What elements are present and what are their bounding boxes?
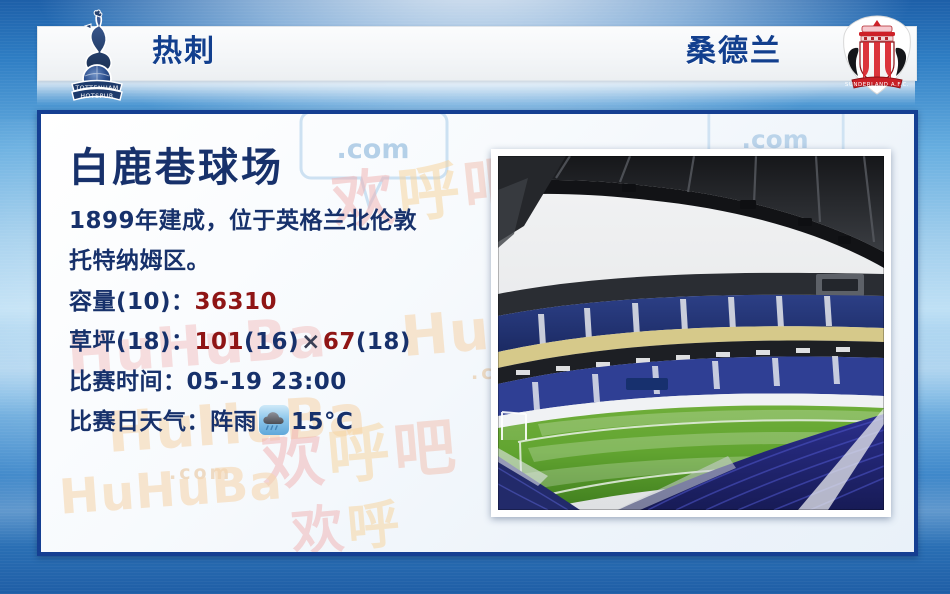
match-stadium-infographic: 热刺 桑德兰 [0,0,950,594]
crest-motto-bottom: HOTSPUR [80,93,113,100]
pitch-row: 草坪(18)：101(16)×67(18) [69,322,489,362]
shower-rain-cloud-icon [259,405,289,435]
weather-temperature: 15°C [291,409,353,435]
capacity-value: 36310 [195,289,278,315]
stadium-info-panel: .com .com 欢呼吧 HuHuBa HuHuBa .com HuHuBa … [37,110,918,556]
capacity-row: 容量(10)：36310 [69,282,489,322]
weather-row: 比赛日天气：阵雨 [69,402,489,442]
stadium-description-line-1: 1899年建成，位于英格兰北伦敦 [69,202,474,240]
pitch-length: 101 [195,329,245,355]
away-team-name: 桑德兰 [686,30,782,74]
pitch-width-note: (18) [356,329,411,355]
weather-condition: 阵雨 [210,409,257,435]
pitch-length-note: (16) [244,329,299,355]
stadium-description-line-2: 托特纳姆区。 [69,242,474,280]
kickoff-label: 比赛时间： [69,369,187,395]
header-sheen [37,79,915,105]
kickoff-row: 比赛时间：05-19 23:00 [69,362,489,402]
weather-label: 比赛日天气： [69,409,210,435]
watermark-char-1c: 欢 [289,499,350,552]
sunderland-afc-crest-icon: SUNDERLAND A.F.C. [836,14,918,96]
pitch-width: 67 [323,329,356,355]
watermark-char-2c: 呼 [345,494,406,552]
pitch-times-sign: × [299,329,323,355]
stadium-title: 白鹿巷球场 [69,142,489,194]
pitch-label: 草坪(18)： [69,329,195,355]
watermark-brand-latin-bottom: HuHuBa [57,454,284,525]
white-hart-lane-stadium-photo [498,156,884,510]
tottenham-hotspur-crest-icon: TOTTENHAM HOTSPUR [62,8,132,102]
stadium-photo-frame [491,149,891,517]
stadium-info-text: 白鹿巷球场 1899年建成，位于英格兰北伦敦 托特纳姆区。 容量(10)：363… [69,142,489,442]
crest-motto: SUNDERLAND A.F.C. [845,82,909,88]
kickoff-value: 05-19 23:00 [187,369,347,395]
capacity-label: 容量(10)： [69,289,195,315]
home-team-name: 热刺 [152,30,216,74]
watermark-domain-low: .com [169,462,232,484]
watermark-brand-cn-footer: 欢呼 [288,481,406,552]
